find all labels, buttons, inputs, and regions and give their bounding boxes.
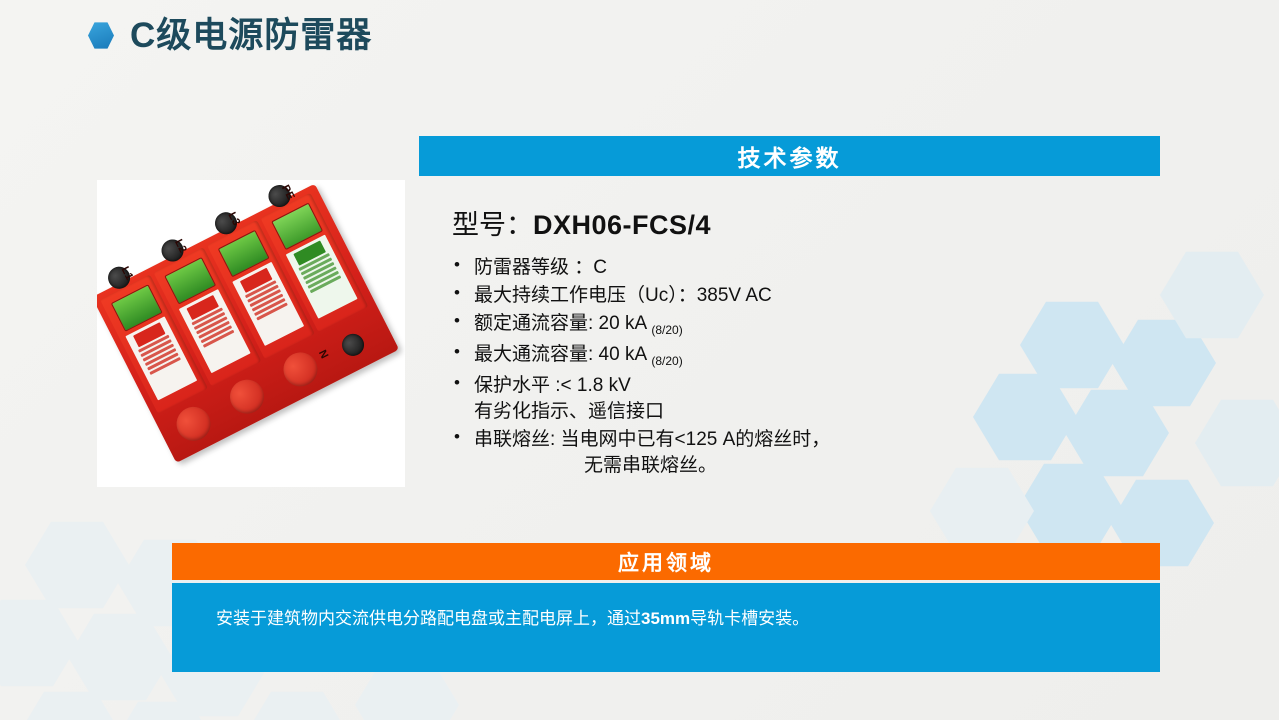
product-image: L1 L2 L3 PE N [97, 180, 405, 487]
spec-text: 串联熔丝: 当电网中已有<125 A的熔丝时， [474, 429, 830, 450]
spec-continuation: 无需串联熔丝。 [474, 456, 1152, 475]
spec-item-uc: 最大持续工作电压（Uc）：385V AC [452, 286, 1152, 305]
application-text-after: 导轨卡槽安装。 [690, 609, 809, 628]
hexagon-decoration [18, 690, 122, 720]
application-header: 应用领域 [172, 543, 1160, 580]
hexagon-decoration [68, 612, 172, 702]
hexagon-decoration [0, 598, 79, 688]
spec-item-max-current: 最大通流容量: 40 kA (8/20) [452, 345, 1152, 367]
spec-subscript: (8/20) [651, 323, 682, 337]
model-line: 型号：DXH06-FCS/4 [452, 203, 711, 242]
application-body: 安装于建筑物内交流供电分路配电盘或主配电屏上，通过35mm导轨卡槽安装。 [172, 583, 1160, 672]
page-header: C级电源防雷器 [88, 18, 372, 53]
spec-text: 额定通流容量: 20 kA [474, 313, 651, 334]
model-value: DXH06-FCS/4 [533, 210, 711, 240]
page-title: C级电源防雷器 [130, 18, 372, 53]
hexagon-decoration [25, 520, 129, 610]
spec-continuation: 有劣化指示、遥信接口 [474, 402, 1152, 421]
spec-item-grade: 防雷器等级 ：C [452, 258, 1152, 277]
spec-item-series-fuse: 串联熔丝: 当电网中已有<125 A的熔丝时， 无需串联熔丝。 [452, 430, 1152, 475]
tech-parameters-header: 技术参数 [419, 136, 1160, 176]
hexagon-decoration [1160, 250, 1264, 340]
application-description: 安装于建筑物内交流供电分路配电盘或主配电屏上，通过35mm导轨卡槽安装。 [216, 604, 809, 629]
spec-item-protection-level: 保护水平 :< 1.8 kV 有劣化指示、遥信接口 [452, 376, 1152, 421]
spec-text: 保护水平 :< 1.8 kV [474, 375, 631, 396]
hexagon-decoration [1195, 398, 1279, 488]
spec-subscript: (8/20) [651, 354, 682, 368]
spec-text: 防雷器等级 ：C [474, 257, 607, 278]
application-text-before: 安装于建筑物内交流供电分路配电盘或主配电屏上，通过 [216, 609, 641, 628]
tech-parameters-title: 技术参数 [738, 139, 842, 173]
model-label: 型号： [452, 210, 533, 240]
hexagon-decoration [245, 690, 349, 720]
application-title: 应用领域 [618, 547, 714, 577]
hexagon-icon [88, 22, 114, 50]
tech-spec-list: 防雷器等级 ：C 最大持续工作电压（Uc）：385V AC 额定通流容量: 20… [452, 258, 1152, 484]
spec-text: 最大持续工作电压（Uc）：385V AC [474, 285, 772, 306]
spd-device-illustration: L1 L2 L3 PE N [97, 183, 405, 484]
spec-text: 最大通流容量: 40 kA [474, 344, 651, 365]
application-rail-size: 35mm [641, 609, 690, 628]
slide-canvas: C级电源防雷器 [0, 0, 1279, 720]
spec-item-nominal-current: 额定通流容量: 20 kA (8/20) [452, 314, 1152, 336]
hexagon-decoration [112, 700, 216, 720]
